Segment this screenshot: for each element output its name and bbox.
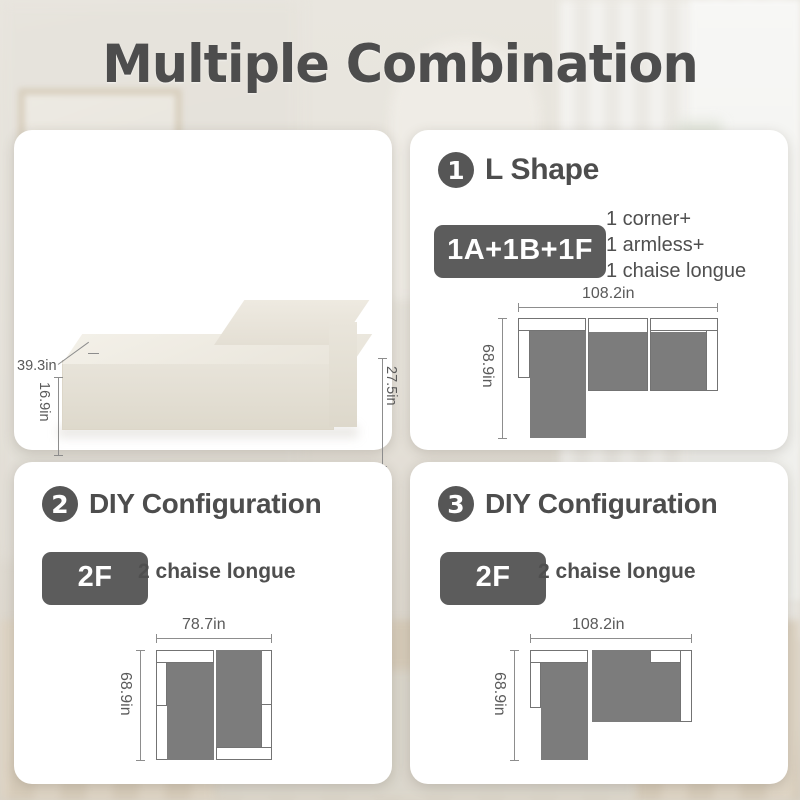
plan-left-seat xyxy=(541,663,588,760)
plan-tick-depth-top xyxy=(136,650,145,651)
plan-dim-line-width xyxy=(156,638,272,639)
plan-label-width: 108.2in xyxy=(582,285,635,303)
description-line-1: 1 corner+ xyxy=(606,206,746,232)
plan-left-back xyxy=(530,650,588,663)
plan-dim-line-width xyxy=(530,638,692,639)
plan-right-back xyxy=(216,747,272,760)
dim-tick-back-top xyxy=(378,358,387,359)
plan-dim-line-width xyxy=(518,307,718,308)
plan-tick-width-right xyxy=(271,634,272,643)
heading-config-1: 1 L Shape xyxy=(438,152,599,188)
plan-two-chaise xyxy=(156,650,272,760)
photo-sofa-arm xyxy=(329,322,357,427)
heading-label: L Shape xyxy=(485,153,599,187)
config-description: 2 chaise longue xyxy=(138,560,296,584)
card-config-diy-2: 2 DIY Configuration 2F 2 chaise longue 7… xyxy=(14,462,392,784)
photo-sofa-base xyxy=(62,360,334,430)
card-module-spec: 39.3in 16.9in 27.5in 59in 9.8in F Chaise… xyxy=(14,130,392,450)
combination-badge: 2F xyxy=(440,552,546,605)
heading-label: DIY Configuration xyxy=(485,488,717,520)
plan-right-seat xyxy=(216,650,262,747)
step-number-badge: 3 xyxy=(438,486,474,522)
plan-tick-width-left xyxy=(530,634,531,643)
chaise-product-photo xyxy=(44,282,374,472)
plan-label-width: 108.2in xyxy=(572,616,625,634)
dim-tick-depth xyxy=(88,353,99,354)
heading-label: DIY Configuration xyxy=(89,488,321,520)
plan-label-depth: 68.9in xyxy=(478,344,496,388)
plan-label-width: 78.7in xyxy=(182,616,226,634)
plan-label-depth: 68.9in xyxy=(116,672,134,716)
plan-armless-seat xyxy=(589,332,647,390)
plan-corner-seat xyxy=(530,331,586,438)
config-description: 1 corner+ 1 armless+ 1 chaise longue xyxy=(606,206,746,284)
heading-config-2: 2 DIY Configuration xyxy=(42,486,321,522)
plan-chaise-back xyxy=(650,318,718,331)
heading-config-3: 3 DIY Configuration xyxy=(438,486,717,522)
plan-left-back xyxy=(156,650,214,663)
plan-two-chaise-wide xyxy=(530,650,692,760)
dim-label-seat-height: 16.9in xyxy=(36,382,52,422)
plan-dim-line-depth xyxy=(514,650,515,760)
page-title: Multiple Combination xyxy=(16,34,784,95)
plan-label-depth: 68.9in xyxy=(490,672,508,716)
plan-tick-depth-top xyxy=(510,650,519,651)
step-number-badge: 1 xyxy=(438,152,474,188)
description-line-2: 1 armless+ xyxy=(606,232,746,258)
plan-tick-depth-bottom xyxy=(510,760,519,761)
infographic-stage: Multiple Combination 39.3in 16.9in 27.5i… xyxy=(0,0,800,800)
plan-tick-width-left xyxy=(156,634,157,643)
plan-tick-depth-top xyxy=(498,318,507,319)
card-config-diy-3: 3 DIY Configuration 2F 2 chaise longue 1… xyxy=(410,462,788,784)
plan-left-seat xyxy=(167,663,214,760)
combination-badge: 2F xyxy=(42,552,148,605)
dim-line-seat-height xyxy=(58,377,59,455)
plan-tick-width-right xyxy=(717,303,718,312)
plan-chaise-seat xyxy=(651,332,706,390)
dim-tick-seat-bottom xyxy=(54,455,63,456)
plan-tick-width-right xyxy=(691,634,692,643)
plan-tick-width-left xyxy=(518,303,519,312)
plan-tick-depth-bottom xyxy=(498,438,507,439)
plan-l-shape xyxy=(518,318,718,438)
plan-right-arm xyxy=(680,650,692,722)
dim-tick-seat-top xyxy=(54,377,63,378)
step-number-badge: 2 xyxy=(42,486,78,522)
plan-dim-line-depth xyxy=(502,318,503,438)
dim-label-depth: 39.3in xyxy=(17,358,57,374)
plan-tick-depth-bottom xyxy=(136,760,145,761)
combination-badge: 1A+1B+1F xyxy=(434,225,606,278)
config-description: 2 chaise longue xyxy=(538,560,696,584)
dim-label-back-height: 27.5in xyxy=(383,366,399,406)
description-line-3: 1 chaise longue xyxy=(606,258,746,284)
plan-dim-line-depth xyxy=(140,650,141,760)
card-config-l-shape: 1 L Shape 1A+1B+1F 1 corner+ 1 armless+ … xyxy=(410,130,788,450)
plan-corner-back xyxy=(518,318,586,331)
